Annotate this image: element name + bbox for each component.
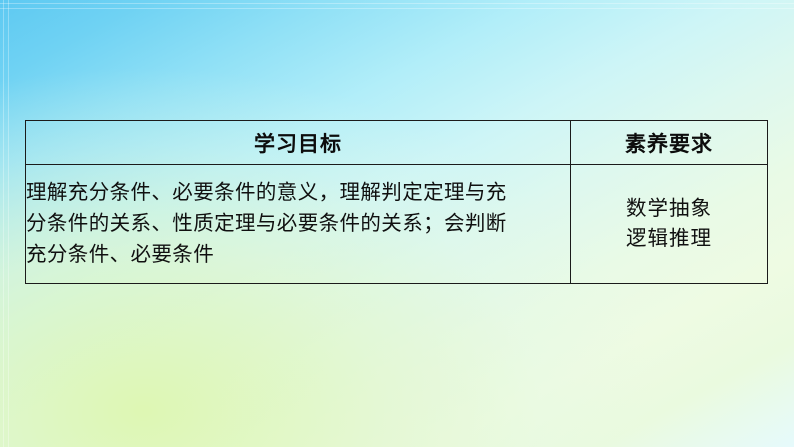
decorative-rule-vertical-2: [8, 0, 9, 447]
goal-text-line-2: 分条件的关系、性质定理与必要条件的关系；会判断: [26, 209, 570, 240]
header-cell-learning-goal: 学习目标: [26, 121, 571, 165]
slide-canvas: 学习目标 素养要求 理解充分条件、必要条件的意义，理解判定定理与充 分条件的关系…: [0, 0, 794, 447]
decorative-rule-horizontal-2: [0, 8, 794, 9]
cell-literacy-content: 数学抽象 逻辑推理: [571, 165, 768, 284]
cell-learning-goal-content: 理解充分条件、必要条件的意义，理解判定定理与充 分条件的关系、性质定理与必要条件…: [26, 165, 571, 284]
learning-objectives-table: 学习目标 素养要求 理解充分条件、必要条件的意义，理解判定定理与充 分条件的关系…: [25, 120, 768, 284]
goal-text-line-3: 充分条件、必要条件: [26, 240, 570, 271]
header-cell-literacy-requirement: 素养要求: [571, 121, 768, 165]
goal-text-line-1: 理解充分条件、必要条件的意义，理解判定定理与充: [26, 178, 570, 209]
decorative-rule-horizontal-1: [0, 3, 794, 4]
decorative-rule-vertical-1: [3, 0, 4, 447]
table-header-row: 学习目标 素养要求: [26, 121, 768, 165]
literacy-item-2: 逻辑推理: [571, 224, 767, 254]
literacy-item-1: 数学抽象: [571, 194, 767, 224]
table-body-row: 理解充分条件、必要条件的意义，理解判定定理与充 分条件的关系、性质定理与必要条件…: [26, 165, 768, 284]
